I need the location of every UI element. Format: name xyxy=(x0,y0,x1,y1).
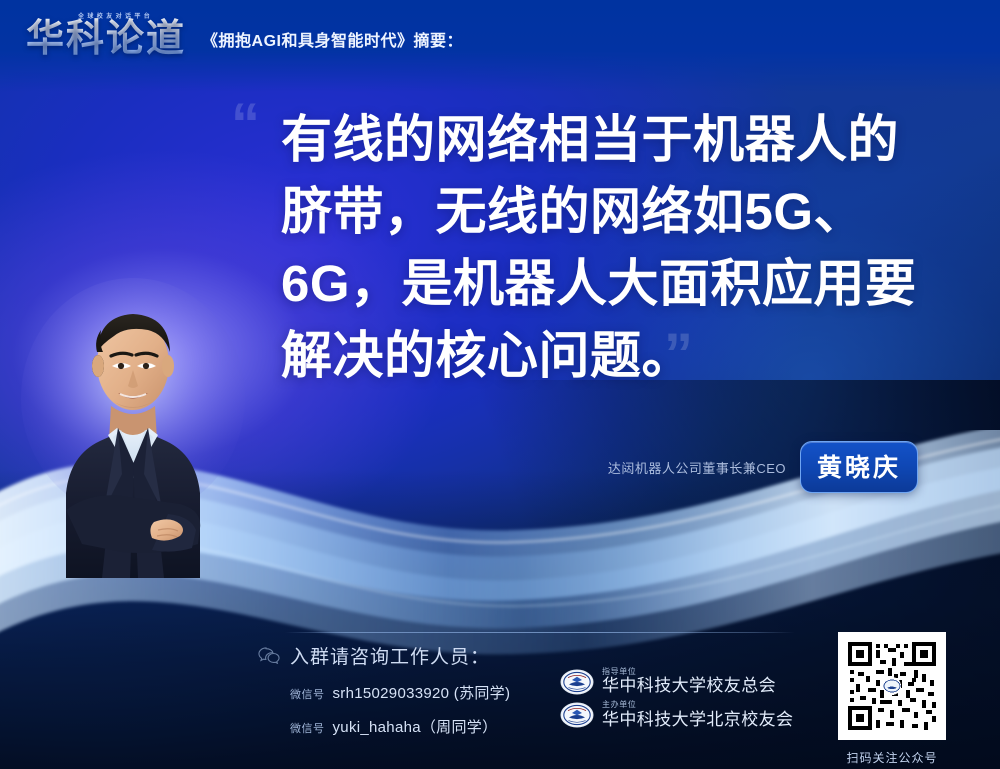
speaker-title: 达闼机器人公司董事长兼CEO xyxy=(608,458,786,477)
hust-seal-icon xyxy=(560,702,594,728)
organization-text: 指导单位 华中科技大学校友总会 xyxy=(602,668,776,695)
qr-caption: 扫码关注公众号 xyxy=(838,749,946,766)
organization-text: 主办单位 华中科技大学北京校友会 xyxy=(602,701,793,728)
contact-heading: 入群请咨询工作人员： xyxy=(258,642,510,669)
organization-kind: 指导单位 xyxy=(602,668,776,676)
footer-divider xyxy=(285,632,795,633)
brand-logo-text: 华科论道 xyxy=(26,14,186,58)
organization-name: 华中科技大学北京校友会 xyxy=(602,711,793,729)
organization-kind: 主办单位 xyxy=(602,701,793,709)
poster-header: 全球校友对话平台 华科论道 《拥抱AGI和具身智能时代》摘要： xyxy=(26,14,463,58)
contact-row: 微信号 yuki_hahaha（周同学） xyxy=(290,716,510,737)
organization-name: 华中科技大学校友总会 xyxy=(602,677,776,695)
contact-value[interactable]: srh15029033920 (苏同学) xyxy=(333,682,511,703)
contact-title: 入群请咨询工作人员： xyxy=(290,642,490,669)
quote-body: 有线的网络相当于机器人的 脐带，无线的网络如5G、 6G，是机器人大面积应用要 … xyxy=(281,104,961,392)
organizations-block: 指导单位 华中科技大学校友总会 主办单位 华中科技大学北京校友会 xyxy=(560,668,793,734)
organization-row: 主办单位 华中科技大学北京校友会 xyxy=(560,701,793,728)
speaker-name-badge: 黄晓庆 xyxy=(800,441,918,493)
contact-label: 微信号 xyxy=(290,686,325,702)
contact-value[interactable]: yuki_hahaha（周同学） xyxy=(333,716,498,737)
qr-code-icon[interactable] xyxy=(838,632,946,740)
quote-open-mark: “ xyxy=(231,96,260,154)
quote-line: 6G，是机器人大面积应用要 xyxy=(281,248,961,320)
brand-tagline: 全球校友对话平台 xyxy=(78,11,153,20)
quote-line: 脐带，无线的网络如5G、 xyxy=(281,176,961,248)
quote-line: 有线的网络相当于机器人的 xyxy=(281,104,961,176)
organization-row: 指导单位 华中科技大学校友总会 xyxy=(560,668,793,695)
wechat-icon xyxy=(258,647,280,664)
qr-code-matrix xyxy=(844,638,940,734)
speaker-portrait xyxy=(18,278,248,578)
hust-seal-icon xyxy=(560,669,594,695)
header-subtitle: 《拥抱AGI和具身智能时代》摘要： xyxy=(202,27,463,58)
poster-root: 全球校友对话平台 华科论道 《拥抱AGI和具身智能时代》摘要： “ 有线的网络相… xyxy=(0,0,1000,769)
contact-block: 入群请咨询工作人员： 微信号 srh15029033920 (苏同学) 微信号 … xyxy=(258,642,510,737)
brand-logo: 全球校友对话平台 华科论道 xyxy=(26,14,186,58)
contact-row: 微信号 srh15029033920 (苏同学) xyxy=(290,682,510,703)
quote-line: 解决的核心问题。 xyxy=(281,320,961,392)
attribution: 达闼机器人公司董事长兼CEO 黄晓庆 xyxy=(608,441,918,493)
contact-label: 微信号 xyxy=(290,720,325,736)
qr-block: 扫码关注公众号 xyxy=(838,632,946,766)
